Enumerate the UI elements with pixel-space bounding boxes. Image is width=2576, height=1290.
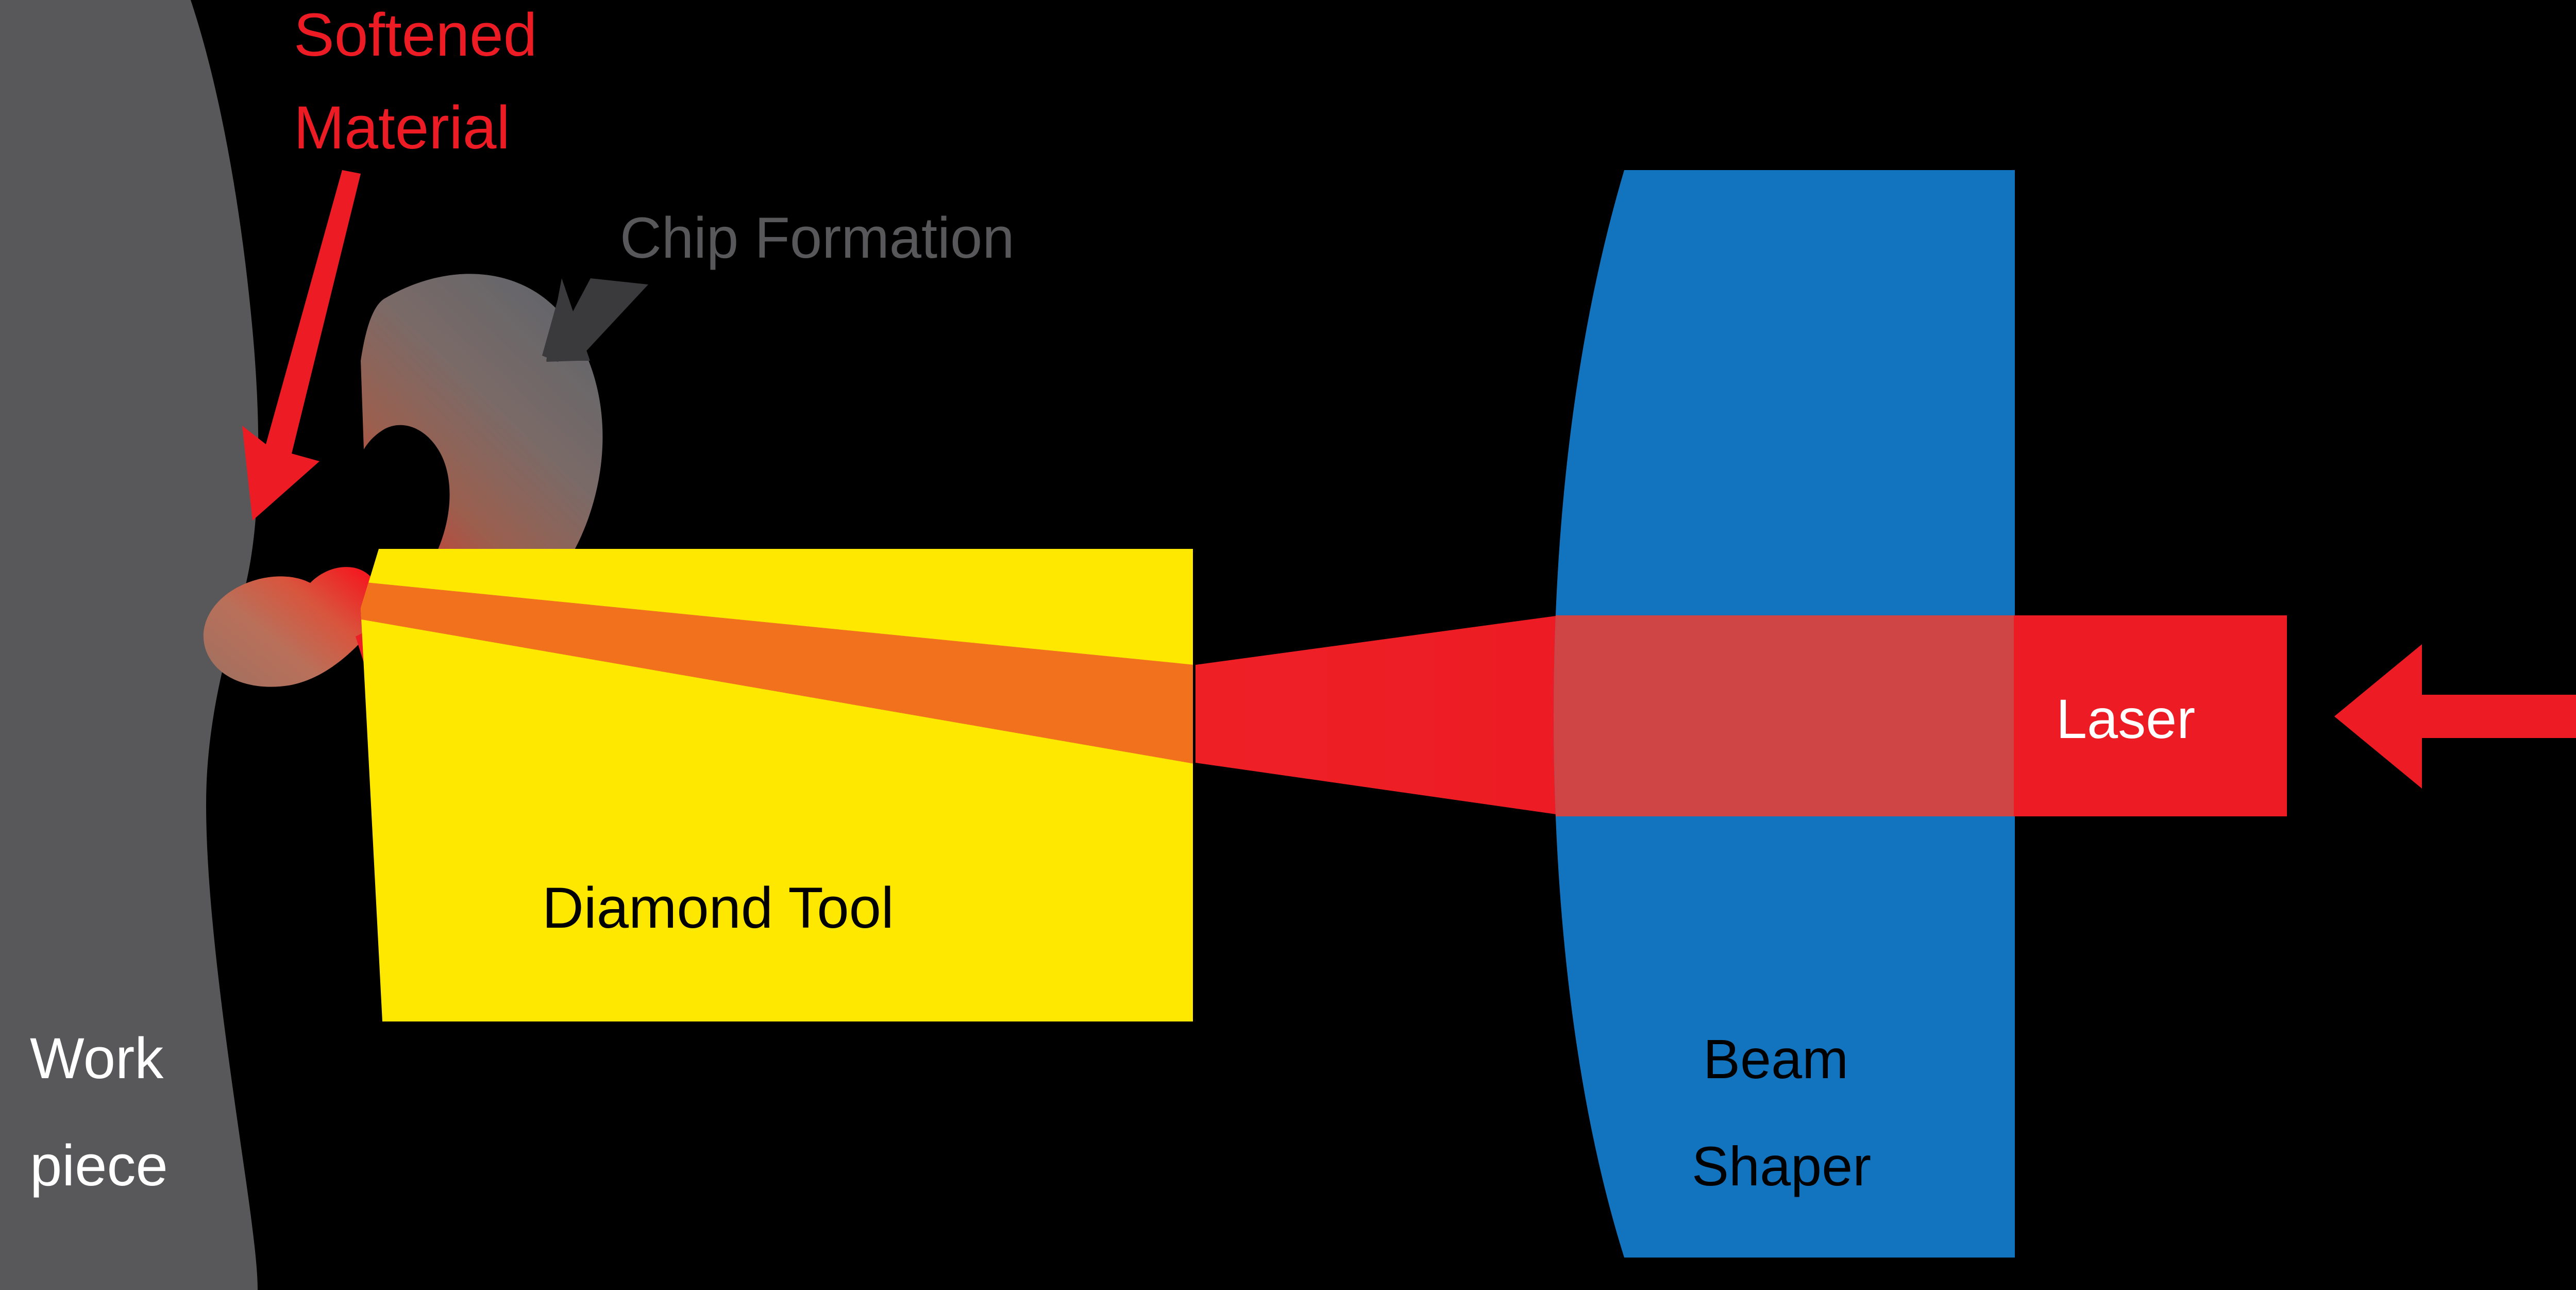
label-workpiece-line1: Work [30, 1026, 164, 1091]
diagram-canvas: Softened Material Chip Formation Diamond… [0, 0, 2576, 1290]
label-softened-material-line1: Softened [294, 1, 537, 69]
label-laser: Laser [2056, 688, 2195, 750]
label-workpiece-line2: piece [30, 1133, 168, 1198]
label-chip-formation: Chip Formation [620, 206, 1015, 270]
laser-beam-in-shaper [1546, 615, 2035, 816]
beam-inside-shaper [1546, 615, 2035, 816]
laser-assisted-machining-diagram: Softened Material Chip Formation Diamond… [0, 0, 2576, 1290]
label-beam-shaper-line1: Beam [1703, 1028, 1848, 1090]
label-softened-material-line2: Material [294, 94, 510, 162]
label-beam-shaper-line2: Shaper [1692, 1135, 1871, 1197]
label-diamond-tool: Diamond Tool [542, 876, 894, 940]
